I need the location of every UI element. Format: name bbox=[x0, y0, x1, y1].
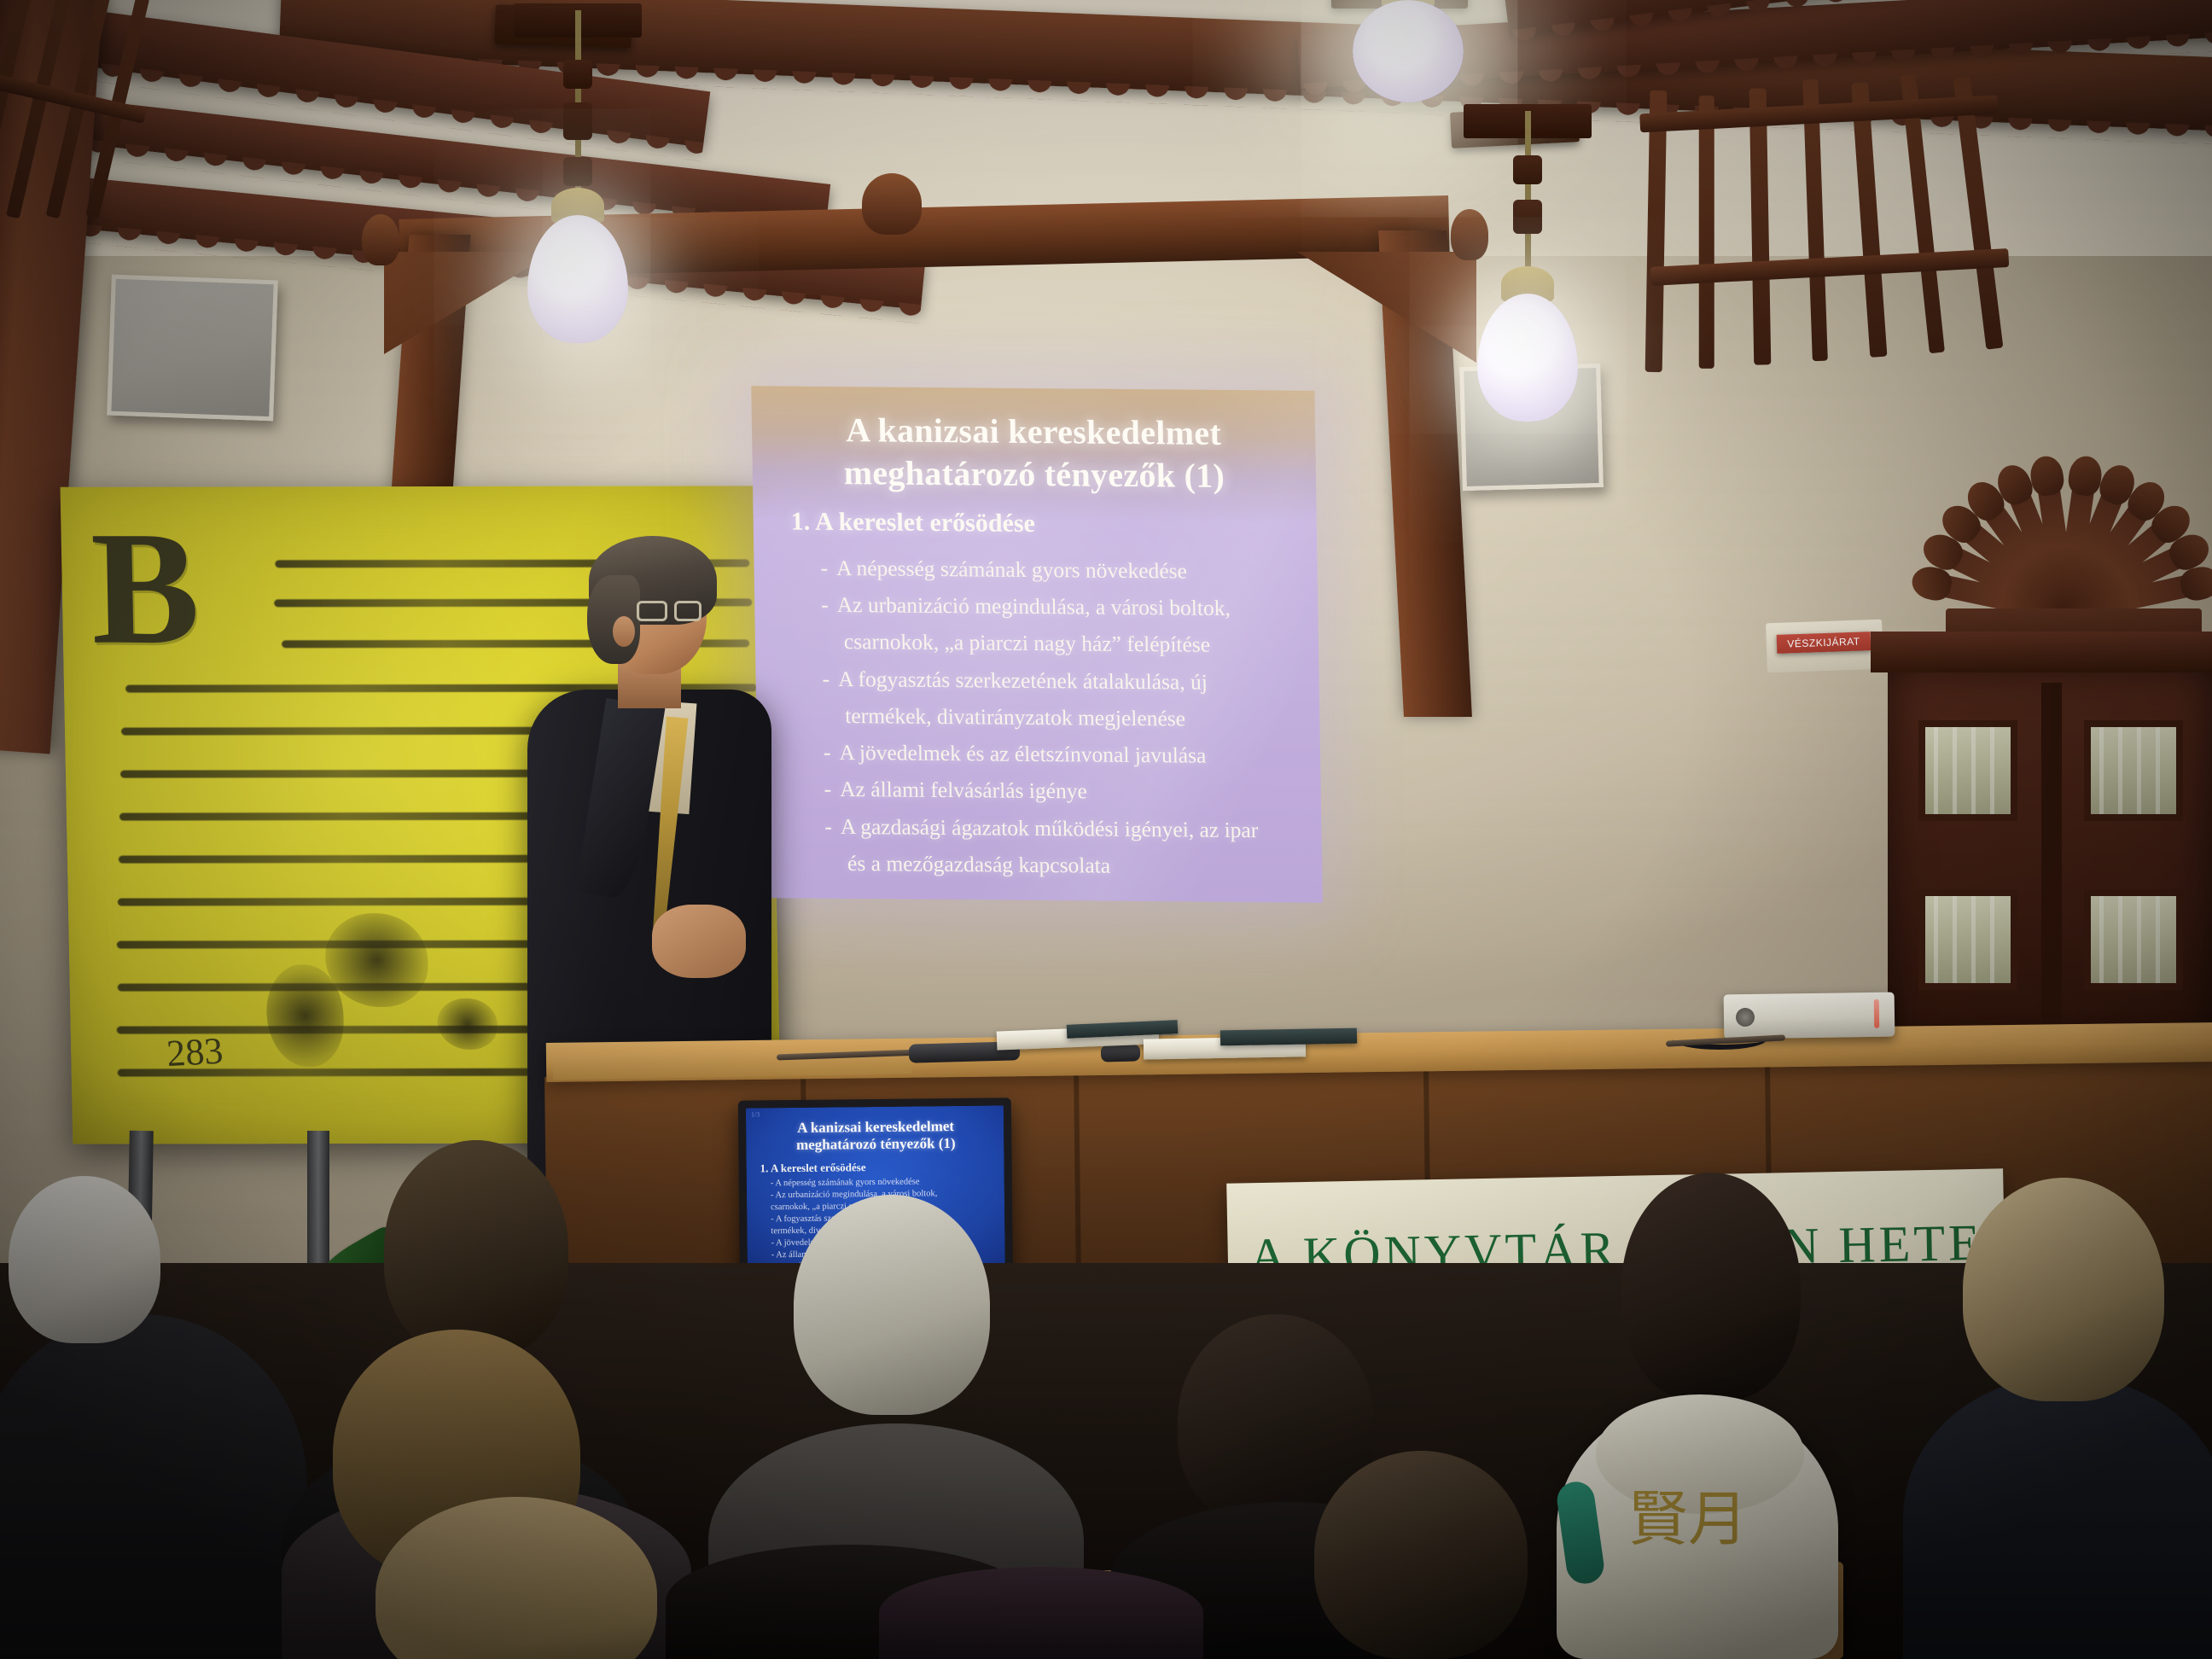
audience-head-2 bbox=[384, 1140, 568, 1357]
hoodie-stripe bbox=[1555, 1480, 1606, 1586]
slide-bullet-continuation: termékek, divatirányzatok megjelenése bbox=[823, 700, 1298, 736]
monitor-slide-title: A kanizsai kereskedelmet meghatározó tén… bbox=[756, 1118, 995, 1155]
slide-title-line-2: meghatározó tényezők (1) bbox=[791, 451, 1277, 498]
slide-bullet-continuation: és a mezőgazdaság kapcsolata bbox=[825, 847, 1301, 883]
slide-title: A kanizsai kereskedelmet meghatározó tén… bbox=[752, 408, 1317, 498]
door-mullion bbox=[2041, 683, 2062, 1067]
audience-head-9 bbox=[1963, 1178, 2164, 1401]
slide-bullet: -A gazdasági ágazatok működési igényei, … bbox=[824, 810, 1300, 846]
slide-bullet-list: -A népesség számának gyors növekedése -A… bbox=[820, 552, 1300, 888]
audience-head-7 bbox=[1314, 1451, 1528, 1659]
pendant-lamp-top bbox=[1331, 0, 1485, 43]
slide-bullet: -A fogyasztás szerkezetének átalakulása,… bbox=[822, 662, 1297, 698]
wall-panel-left bbox=[107, 275, 278, 422]
book-stack-4 bbox=[1220, 1028, 1357, 1046]
door-pane-bottom-left bbox=[1918, 889, 2017, 990]
photo-scene: VÉSZKIJÁRAT B 283 bbox=[0, 0, 2212, 1659]
audience-head-1 bbox=[9, 1176, 160, 1343]
slide-bullet: -Az állami felvásárlás igénye bbox=[824, 773, 1299, 809]
carved-sunburst-ornament bbox=[1912, 337, 2210, 619]
pendant-lamp-right bbox=[1455, 111, 1600, 307]
slide-bullet-continuation: csarnokok, „a piarczi nagy ház” felépíté… bbox=[822, 626, 1297, 661]
slide-bullet: -A jövedelmek és az életszínvonal javulá… bbox=[824, 736, 1299, 772]
audience-hoodie: 賢月 bbox=[1557, 1400, 1838, 1659]
presenter-ear bbox=[613, 616, 635, 647]
bullet-dash: - bbox=[822, 666, 829, 690]
slide-bullet: -Az urbanizáció megindulása, a városi bo… bbox=[821, 589, 1296, 625]
projector-status-indicator bbox=[1874, 999, 1879, 1028]
audience-head-8 bbox=[1621, 1173, 1801, 1401]
presenter-hands bbox=[652, 905, 746, 978]
exit-sign: VÉSZKIJÁRAT bbox=[1777, 632, 1871, 654]
slide-bullet: -A népesség számának gyors növekedése bbox=[820, 552, 1295, 588]
audience-head-5 bbox=[794, 1195, 990, 1415]
slide-section-heading: 1. A kereslet erősödése bbox=[790, 508, 1035, 538]
presenter-sideburn bbox=[587, 575, 640, 664]
bullet-dash: - bbox=[820, 556, 828, 580]
door-pane-top-left bbox=[1918, 720, 2017, 821]
wooden-double-door[interactable] bbox=[1888, 666, 2212, 1067]
lattice-ornament-right bbox=[1638, 63, 2066, 373]
projection-screen: A kanizsai kereskedelmet meghatározó tén… bbox=[751, 386, 1323, 903]
pendant-lamp-left bbox=[505, 10, 650, 224]
hoodie-graphic: 賢月 bbox=[1628, 1492, 1756, 1611]
bullet-dash: - bbox=[824, 777, 831, 801]
lattice-ornament-left bbox=[0, 0, 209, 258]
door-pane-top-right bbox=[2084, 720, 2183, 821]
charter-initial-letter: B bbox=[90, 523, 201, 656]
microphone-2 bbox=[1101, 1044, 1141, 1062]
bullet-dash: - bbox=[824, 740, 831, 765]
bullet-dash: - bbox=[824, 813, 832, 838]
door-pane-bottom-right bbox=[2084, 889, 2183, 990]
bullet-dash: - bbox=[821, 592, 829, 617]
slide-title-line-1: A kanizsai kereskedelmet bbox=[791, 409, 1277, 456]
charter-folio-number: 283 bbox=[166, 1029, 225, 1075]
audience-shoulders-10 bbox=[879, 1567, 1203, 1659]
projector-lens-icon bbox=[1736, 1008, 1755, 1027]
eyeglasses-icon bbox=[637, 601, 708, 623]
monitor-section-heading: 1. A kereslet erősödése bbox=[760, 1159, 996, 1175]
monitor-corner-indicator: 1/3 bbox=[751, 1110, 760, 1118]
audience-shoulders-9 bbox=[1903, 1376, 2212, 1659]
